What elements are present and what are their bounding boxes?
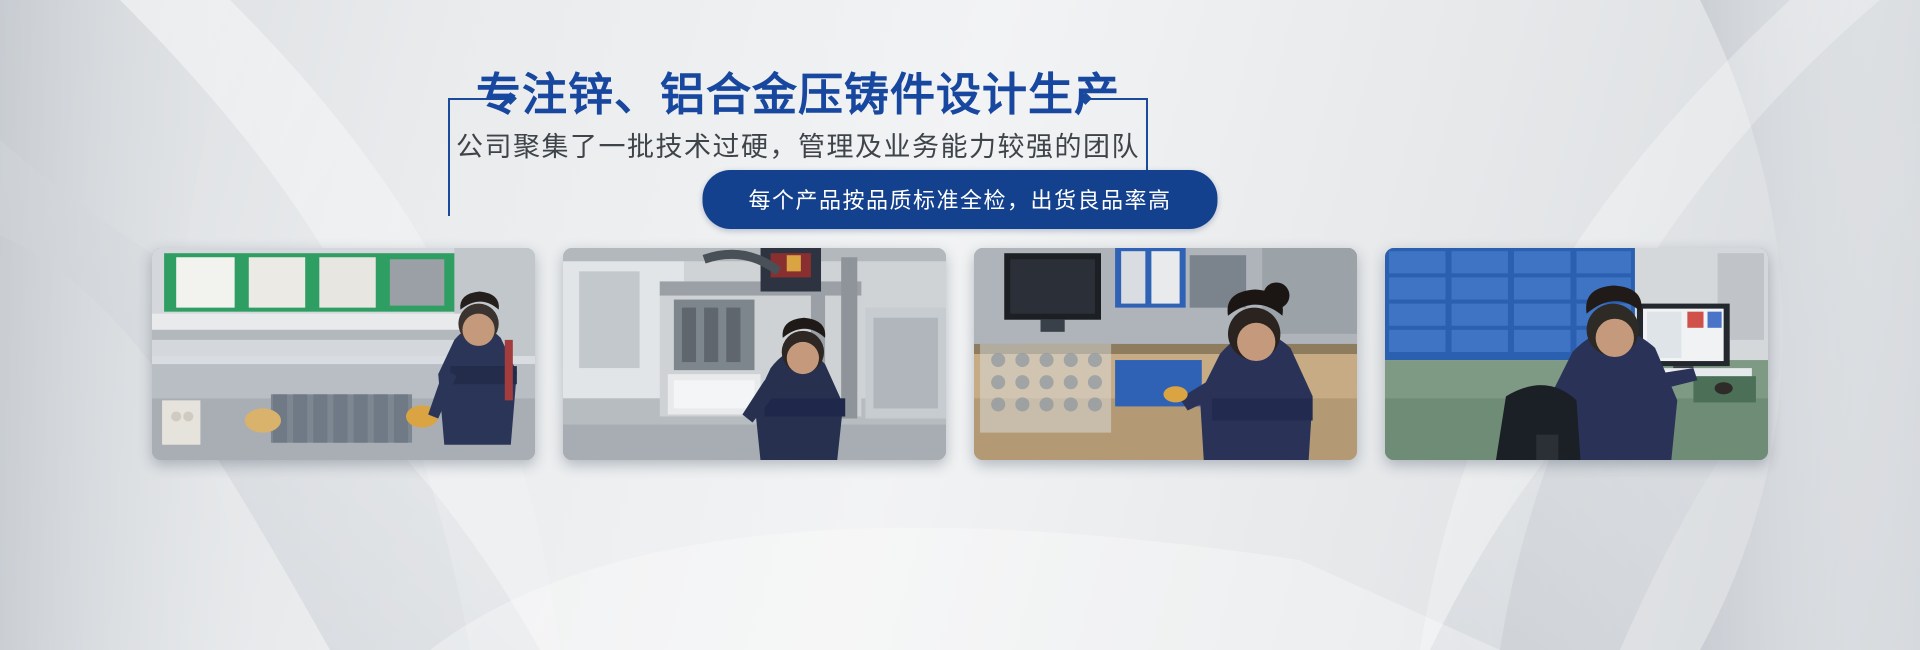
photo-card-warehouse-shelving-worker[interactable] bbox=[152, 248, 535, 460]
photo-card-office-computer-workstation[interactable] bbox=[1385, 248, 1768, 460]
photo-strip bbox=[152, 248, 1768, 460]
promo-banner: 专注锌、铝合金压铸件设计生产 公司聚集了一批技术过硬，管理及业务能力较强的团队 … bbox=[0, 0, 1920, 650]
photo-card-quality-inspection-desk[interactable] bbox=[974, 248, 1357, 460]
photo-card-die-casting-machine-operator[interactable] bbox=[563, 248, 946, 460]
banner-title: 专注锌、铝合金压铸件设计生产 bbox=[448, 64, 1148, 126]
quality-pill-badge: 每个产品按品质标准全检，出货良品率高 bbox=[702, 170, 1217, 229]
banner-subtitle: 公司聚集了一批技术过硬，管理及业务能力较强的团队 bbox=[448, 126, 1148, 168]
